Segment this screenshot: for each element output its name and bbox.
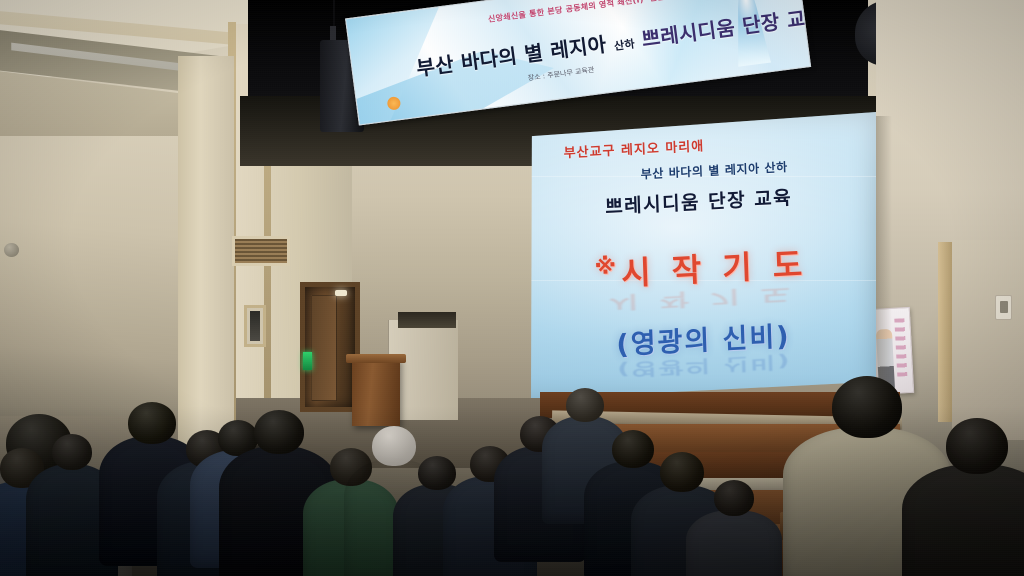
person-head	[52, 434, 92, 470]
asterisk-icon: ※	[594, 254, 621, 280]
person-head	[128, 402, 176, 444]
person-head	[660, 452, 704, 492]
wall-lamp-icon	[4, 243, 19, 257]
person-head	[372, 426, 416, 466]
person-head	[566, 388, 604, 422]
person-torso	[902, 464, 1024, 576]
person-head	[254, 410, 304, 454]
person-head	[714, 480, 754, 516]
photo-scene: 부산교구 레지오 마리애 부산 바다의 별 레지아 산하 쁘레시디움 단장 교육…	[0, 0, 1024, 576]
person-head	[832, 376, 902, 438]
cabinet-top-dark	[398, 312, 456, 328]
person-torso	[686, 510, 782, 576]
door-head-light	[335, 290, 347, 296]
person-head	[418, 456, 456, 490]
audience-crowd	[0, 330, 1024, 576]
banner-main-small: 산하	[613, 38, 636, 54]
power-outlet-icon	[995, 295, 1012, 320]
wall-vent-lower	[232, 236, 290, 266]
person-head	[946, 418, 1008, 474]
person-head	[612, 430, 654, 468]
